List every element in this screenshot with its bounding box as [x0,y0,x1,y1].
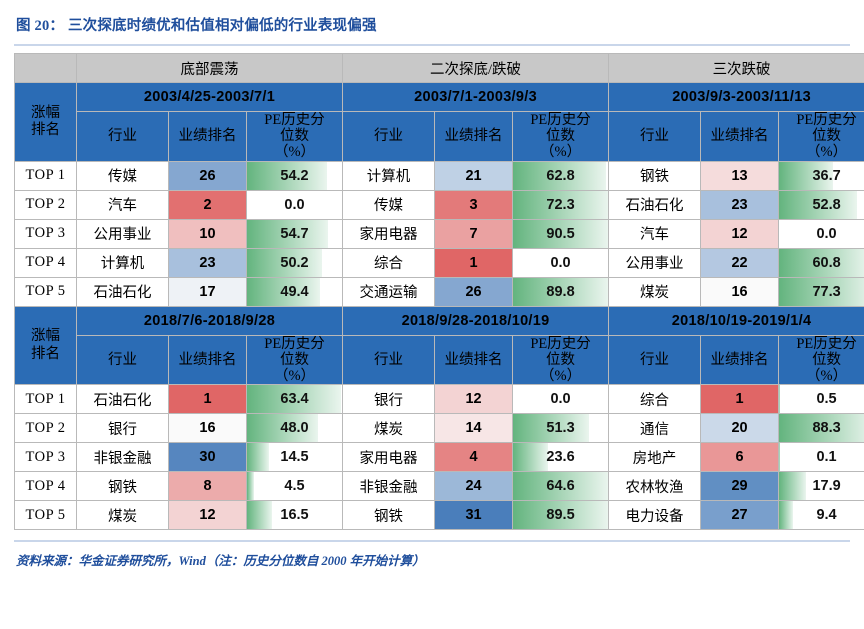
pe-value: 14.5 [247,443,342,471]
group-band-spacer [15,54,77,83]
cell-pe-percentile: 60.8 [779,248,864,277]
row-rank-label: TOP 2 [15,414,77,443]
cell-industry: 钢铁 [609,161,701,190]
cell-perf-rank: 6 [701,443,779,472]
cell-industry: 公用事业 [609,248,701,277]
group-band-1: 底部震荡 [77,54,343,83]
cell-perf-rank: 1 [169,385,247,414]
cell-perf-rank: 3 [435,190,513,219]
cell-perf-rank: 16 [701,277,779,306]
pe-value: 52.8 [779,191,864,219]
pe-value: 60.8 [779,249,864,277]
cell-pe-percentile: 48.0 [247,414,343,443]
table-row: TOP 4计算机2350.2综合10.0公用事业2260.8 [15,248,864,277]
table-row: TOP 3公用事业1054.7家用电器790.5汽车120.0 [15,219,864,248]
pe-header-line2: 位数 [513,128,608,144]
cell-industry: 钢铁 [77,472,169,501]
column-header-industry-3: 行业 [609,335,701,385]
pe-header-line2: 位数 [779,352,864,368]
cell-perf-rank: 30 [169,443,247,472]
cell-pe-percentile: 88.3 [779,414,864,443]
pe-value: 89.8 [513,278,608,306]
pe-header-line3: （%） [513,368,608,384]
column-header-perf-rank-1: 业绩排名 [169,335,247,385]
pe-header-line1: PE历史分 [779,336,864,352]
pe-value: 0.0 [247,191,342,219]
pe-header-line3: （%） [779,368,864,384]
column-header-industry-2: 行业 [343,112,435,162]
cell-industry: 钢铁 [343,501,435,530]
row-rank-label: TOP 4 [15,472,77,501]
cell-perf-rank: 12 [435,385,513,414]
cell-industry: 煤炭 [77,501,169,530]
column-header-row: 行业业绩排名PE历史分位数（%）行业业绩排名PE历史分位数（%）行业业绩排名PE… [15,335,864,385]
pe-value: 16.5 [247,501,342,529]
period-label-3: 2018/10/19-2019/1/4 [609,306,864,335]
pe-header-line3: （%） [247,144,342,160]
cell-pe-percentile: 14.5 [247,443,343,472]
industry-performance-table: 底部震荡二次探底/跌破三次跌破涨幅排名2003/4/25-2003/7/1200… [14,53,864,530]
period-label-1: 2018/7/6-2018/9/28 [77,306,343,335]
cell-perf-rank: 16 [169,414,247,443]
cell-industry: 石油石化 [77,277,169,306]
pe-value: 0.1 [779,443,864,471]
pe-value: 50.2 [247,249,342,277]
rank-column-header: 涨幅排名 [15,83,77,162]
cell-perf-rank: 26 [435,277,513,306]
rank-header-line1: 涨幅 [15,328,76,345]
cell-pe-percentile: 89.5 [513,501,609,530]
cell-pe-percentile: 23.6 [513,443,609,472]
pe-header-line2: 位数 [513,352,608,368]
cell-industry: 汽车 [609,219,701,248]
cell-pe-percentile: 17.9 [779,472,864,501]
column-header-pe-percentile-2: PE历史分位数（%） [513,335,609,385]
column-header-pe-percentile-2: PE历史分位数（%） [513,112,609,162]
cell-industry: 交通运输 [343,277,435,306]
pe-header-line1: PE历史分 [513,112,608,128]
pe-header-line1: PE历史分 [513,336,608,352]
pe-value: 48.0 [247,414,342,442]
table-row: TOP 5石油石化1749.4交通运输2689.8煤炭1677.3 [15,277,864,306]
pe-header-line3: （%） [779,144,864,160]
cell-industry: 银行 [343,385,435,414]
table-row: TOP 4钢铁84.5非银金融2464.6农林牧渔2917.9 [15,472,864,501]
row-rank-label: TOP 5 [15,277,77,306]
pe-header-line2: 位数 [247,128,342,144]
cell-pe-percentile: 54.7 [247,219,343,248]
column-header-perf-rank-2: 业绩排名 [435,112,513,162]
cell-pe-percentile: 64.6 [513,472,609,501]
cell-pe-percentile: 90.5 [513,219,609,248]
column-header-pe-percentile-1: PE历史分位数（%） [247,335,343,385]
pe-header-line1: PE历史分 [247,336,342,352]
cell-perf-rank: 21 [435,161,513,190]
column-header-perf-rank-2: 业绩排名 [435,335,513,385]
row-rank-label: TOP 4 [15,248,77,277]
row-rank-label: TOP 2 [15,190,77,219]
pe-value: 0.0 [779,220,864,248]
table-row: TOP 2汽车20.0传媒372.3石油石化2352.8 [15,190,864,219]
cell-pe-percentile: 4.5 [247,472,343,501]
pe-value: 0.5 [779,385,864,413]
pe-value: 0.0 [513,385,608,413]
cell-perf-rank: 1 [701,385,779,414]
cell-industry: 家用电器 [343,443,435,472]
pe-value: 89.5 [513,501,608,529]
column-header-pe-percentile-1: PE历史分位数（%） [247,112,343,162]
pe-value: 88.3 [779,414,864,442]
table-row: TOP 5煤炭1216.5钢铁3189.5电力设备279.4 [15,501,864,530]
period-band-row: 涨幅排名2003/4/25-2003/7/12003/7/1-2003/9/32… [15,83,864,112]
title-divider [14,44,850,46]
period-label-2: 2018/9/28-2018/10/19 [343,306,609,335]
cell-perf-rank: 13 [701,161,779,190]
pe-value: 90.5 [513,220,608,248]
pe-value: 23.6 [513,443,608,471]
pe-value: 54.2 [247,162,342,190]
row-rank-label: TOP 5 [15,501,77,530]
cell-industry: 农林牧渔 [609,472,701,501]
cell-perf-rank: 23 [701,190,779,219]
cell-perf-rank: 12 [169,501,247,530]
cell-pe-percentile: 0.0 [513,385,609,414]
table-row: TOP 3非银金融3014.5家用电器423.6房地产60.1 [15,443,864,472]
pe-value: 0.0 [513,249,608,277]
pe-header-line3: （%） [513,144,608,160]
row-rank-label: TOP 3 [15,443,77,472]
cell-perf-rank: 12 [701,219,779,248]
cell-perf-rank: 20 [701,414,779,443]
cell-pe-percentile: 89.8 [513,277,609,306]
cell-pe-percentile: 77.3 [779,277,864,306]
group-band-2: 二次探底/跌破 [343,54,609,83]
pe-value: 17.9 [779,472,864,500]
page-title: 图 20： 三次探底时绩优和估值相对偏低的行业表现偏强 [14,14,850,35]
pe-value: 51.3 [513,414,608,442]
cell-industry: 汽车 [77,190,169,219]
pe-header-line1: PE历史分 [247,112,342,128]
cell-pe-percentile: 72.3 [513,190,609,219]
cell-perf-rank: 4 [435,443,513,472]
cell-pe-percentile: 54.2 [247,161,343,190]
row-rank-label: TOP 1 [15,385,77,414]
cell-industry: 通信 [609,414,701,443]
cell-perf-rank: 2 [169,190,247,219]
rank-header-line2: 排名 [15,122,76,139]
pe-value: 36.7 [779,162,864,190]
group-band-row: 底部震荡二次探底/跌破三次跌破 [15,54,864,83]
pe-value: 77.3 [779,278,864,306]
column-header-pe-percentile-3: PE历史分位数（%） [779,112,864,162]
cell-pe-percentile: 0.0 [513,248,609,277]
column-header-perf-rank-3: 业绩排名 [701,335,779,385]
cell-industry: 传媒 [77,161,169,190]
cell-pe-percentile: 36.7 [779,161,864,190]
pe-value: 63.4 [247,385,342,413]
cell-industry: 计算机 [77,248,169,277]
pe-value: 4.5 [247,472,342,500]
pe-header-line2: 位数 [247,352,342,368]
pe-header-line3: （%） [247,368,342,384]
pe-value: 49.4 [247,278,342,306]
cell-pe-percentile: 0.0 [247,190,343,219]
rank-column-header: 涨幅排名 [15,306,77,385]
column-header-industry-3: 行业 [609,112,701,162]
cell-industry: 银行 [77,414,169,443]
group-band-3: 三次跌破 [609,54,864,83]
cell-pe-percentile: 62.8 [513,161,609,190]
period-band-row: 涨幅排名2018/7/6-2018/9/282018/9/28-2018/10/… [15,306,864,335]
cell-pe-percentile: 52.8 [779,190,864,219]
cell-industry: 综合 [343,248,435,277]
rank-header-line1: 涨幅 [15,105,76,122]
period-label-1: 2003/4/25-2003/7/1 [77,83,343,112]
column-header-row: 行业业绩排名PE历史分位数（%）行业业绩排名PE历史分位数（%）行业业绩排名PE… [15,112,864,162]
cell-perf-rank: 24 [435,472,513,501]
cell-industry: 家用电器 [343,219,435,248]
cell-perf-rank: 27 [701,501,779,530]
cell-perf-rank: 29 [701,472,779,501]
cell-pe-percentile: 0.5 [779,385,864,414]
period-label-3: 2003/9/3-2003/11/13 [609,83,864,112]
cell-perf-rank: 7 [435,219,513,248]
pe-value: 64.6 [513,472,608,500]
cell-industry: 石油石化 [77,385,169,414]
cell-perf-rank: 31 [435,501,513,530]
pe-value: 72.3 [513,191,608,219]
cell-industry: 石油石化 [609,190,701,219]
cell-pe-percentile: 50.2 [247,248,343,277]
period-label-2: 2003/7/1-2003/9/3 [343,83,609,112]
cell-perf-rank: 8 [169,472,247,501]
cell-industry: 计算机 [343,161,435,190]
column-header-pe-percentile-3: PE历史分位数（%） [779,335,864,385]
column-header-industry-2: 行业 [343,335,435,385]
rank-header-line2: 排名 [15,346,76,363]
cell-perf-rank: 10 [169,219,247,248]
cell-pe-percentile: 49.4 [247,277,343,306]
cell-pe-percentile: 16.5 [247,501,343,530]
cell-pe-percentile: 0.0 [779,219,864,248]
row-rank-label: TOP 3 [15,219,77,248]
pe-header-line2: 位数 [779,128,864,144]
cell-industry: 煤炭 [343,414,435,443]
cell-industry: 传媒 [343,190,435,219]
cell-pe-percentile: 51.3 [513,414,609,443]
pe-value: 54.7 [247,220,342,248]
column-header-industry-1: 行业 [77,335,169,385]
cell-perf-rank: 17 [169,277,247,306]
cell-industry: 综合 [609,385,701,414]
table-row: TOP 1传媒2654.2计算机2162.8钢铁1336.7 [15,161,864,190]
title-block: 图 20： 三次探底时绩优和估值相对偏低的行业表现偏强 [14,0,850,46]
cell-perf-rank: 26 [169,161,247,190]
pe-value: 62.8 [513,162,608,190]
cell-perf-rank: 23 [169,248,247,277]
cell-perf-rank: 1 [435,248,513,277]
cell-pe-percentile: 63.4 [247,385,343,414]
cell-industry: 煤炭 [609,277,701,306]
cell-pe-percentile: 9.4 [779,501,864,530]
cell-perf-rank: 14 [435,414,513,443]
table-row: TOP 1石油石化163.4银行120.0综合10.5 [15,385,864,414]
column-header-industry-1: 行业 [77,112,169,162]
cell-industry: 非银金融 [77,443,169,472]
cell-industry: 房地产 [609,443,701,472]
cell-industry: 电力设备 [609,501,701,530]
cell-industry: 公用事业 [77,219,169,248]
column-header-perf-rank-1: 业绩排名 [169,112,247,162]
pe-header-line1: PE历史分 [779,112,864,128]
pe-value: 9.4 [779,501,864,529]
cell-perf-rank: 22 [701,248,779,277]
row-rank-label: TOP 1 [15,161,77,190]
column-header-perf-rank-3: 业绩排名 [701,112,779,162]
cell-industry: 非银金融 [343,472,435,501]
figure-page: 图 20： 三次探底时绩优和估值相对偏低的行业表现偏强 底部震荡二次探底/跌破三… [0,0,864,629]
cell-pe-percentile: 0.1 [779,443,864,472]
footer-divider [14,540,850,542]
table-row: TOP 2银行1648.0煤炭1451.3通信2088.3 [15,414,864,443]
source-note: 资料来源：华金证券研究所，Wind（注：历史分位数自 2000 年开始计算） [14,550,850,569]
